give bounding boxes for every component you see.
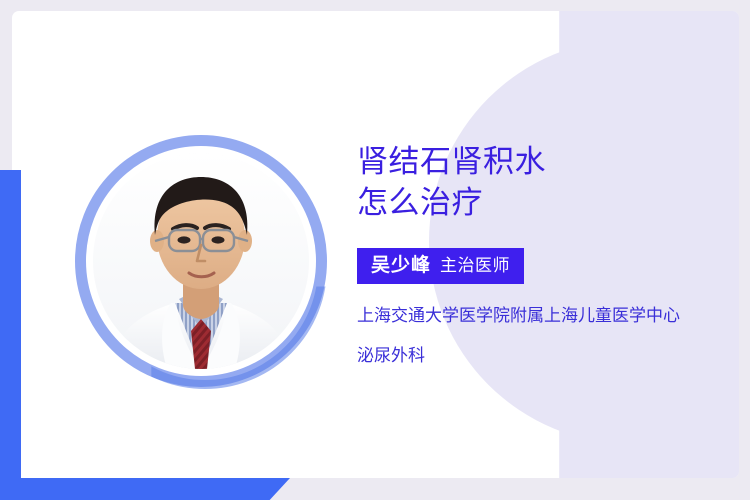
accent-bar-left [0,170,21,500]
doctor-rank: 主治医师 [440,256,510,275]
doctor-hospital: 上海交通大学医学院附属上海儿童医学中心 [357,303,687,328]
doctor-info: 肾结石肾积水 怎么治疗 吴少峰主治医师 上海交通大学医学院附属上海儿童医学中心 … [357,141,697,367]
doctor-badge: 吴少峰主治医师 [357,248,524,284]
page-title: 肾结石肾积水 怎么治疗 [357,141,697,223]
accent-bar-bottom [0,478,290,500]
doctor-name: 吴少峰 [371,255,431,276]
avatar [75,135,327,387]
doctor-department: 泌尿外科 [357,345,697,367]
card-surface: 肾结石肾积水 怎么治疗 吴少峰主治医师 上海交通大学医学院附属上海儿童医学中心 … [12,11,739,478]
doctor-profile-card: 肾结石肾积水 怎么治疗 吴少峰主治医师 上海交通大学医学院附属上海儿童医学中心 … [0,0,750,500]
